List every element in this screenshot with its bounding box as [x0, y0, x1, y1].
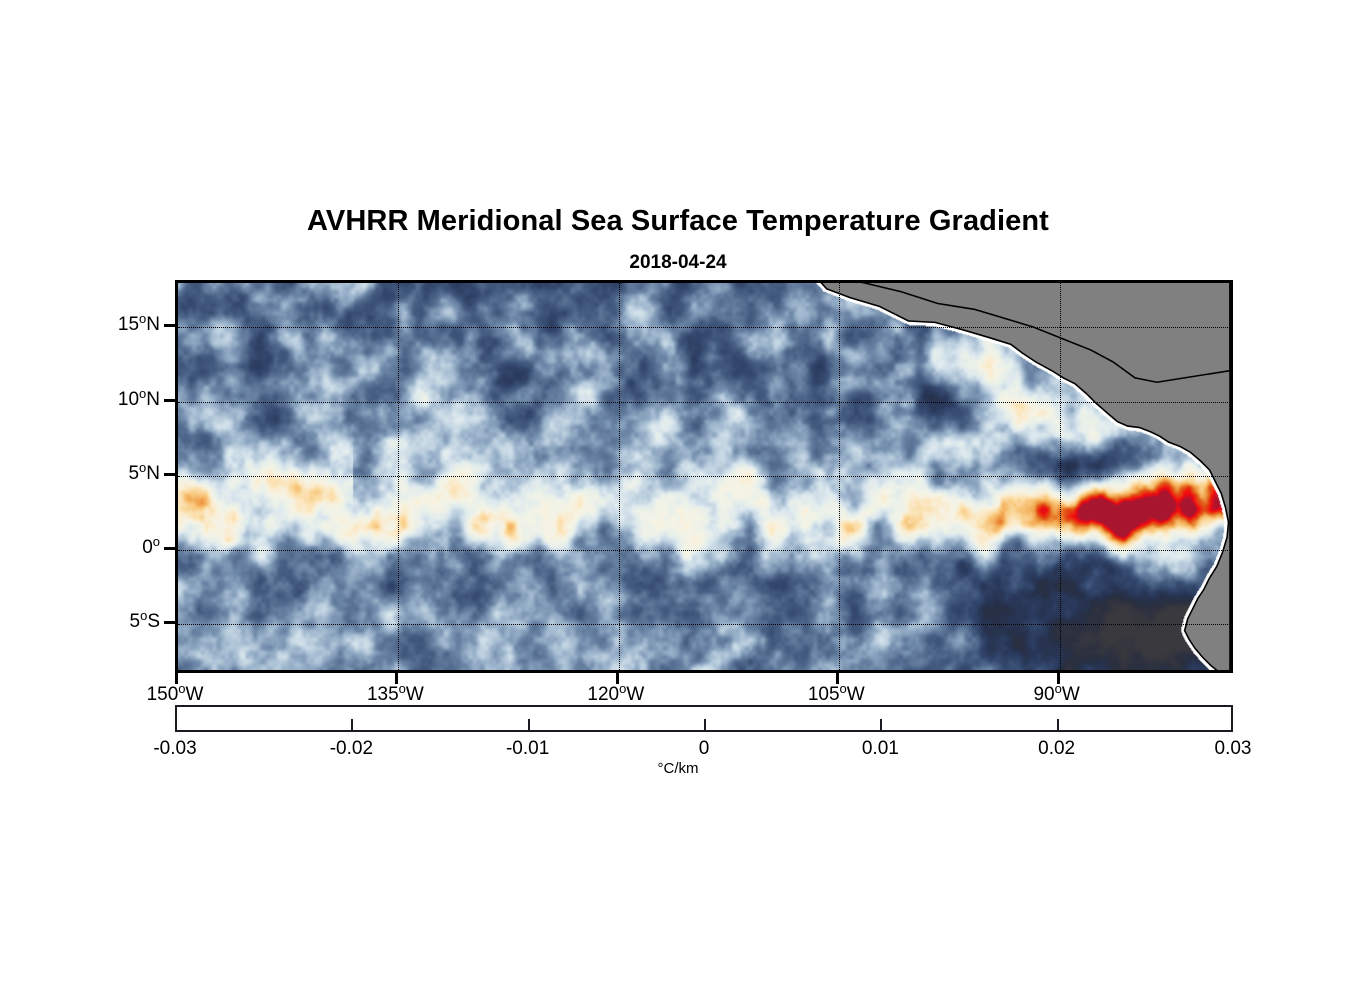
colorbar: [175, 705, 1233, 732]
map-axes: [175, 280, 1233, 673]
tick-lat-5N: [164, 473, 175, 476]
ticklabel-lon-90W: 90oW: [987, 681, 1127, 706]
coastline: [814, 283, 1230, 382]
page-title: AVHRR Meridional Sea Surface Temperature…: [0, 205, 1356, 238]
tick-lat-15N: [164, 324, 175, 327]
ticklabel-lat-5S: 5oS: [30, 608, 160, 633]
tick-lat-10N: [164, 399, 175, 402]
tick-lat-0: [164, 547, 175, 550]
figure-root: AVHRR Meridional Sea Surface Temperature…: [0, 0, 1356, 1000]
colorbar-tick--0.01: [528, 719, 530, 732]
ticklabel-lat-10N: 10oN: [30, 386, 160, 411]
tick-lat-5S: [164, 621, 175, 624]
colorbar-ticklabel-0: 0: [634, 738, 774, 760]
colorbar-tick-0: [704, 719, 706, 732]
colorbar-unit-label: °C/km: [0, 760, 1356, 777]
ticklabel-lon-150W: 150oW: [105, 681, 245, 706]
colorbar-ticklabel-0.02: 0.02: [987, 738, 1127, 760]
colorbar-ticklabel-0.01: 0.01: [810, 738, 950, 760]
ticklabel-lon-135W: 135oW: [325, 681, 465, 706]
coastline-overlay: [178, 283, 1230, 670]
ticklabel-lon-120W: 120oW: [546, 681, 686, 706]
colorbar-tick-0.01: [880, 719, 882, 732]
ticklabel-lat-5N: 5oN: [30, 460, 160, 485]
colorbar-ticklabel--0.03: -0.03: [105, 738, 245, 760]
colorbar-tick-0.02: [1057, 719, 1059, 732]
ticklabel-lon-105W: 105oW: [766, 681, 906, 706]
ticklabel-lat-0: 0o: [30, 534, 160, 559]
ticklabel-lat-15N: 15oN: [30, 311, 160, 336]
colorbar-ticklabel--0.01: -0.01: [458, 738, 598, 760]
colorbar-ticklabel--0.02: -0.02: [281, 738, 421, 760]
figure-date-subtitle: 2018-04-24: [0, 252, 1356, 274]
colorbar-tick--0.02: [351, 719, 353, 732]
colorbar-ticklabel-0.03: 0.03: [1163, 738, 1303, 760]
coastline: [814, 283, 1230, 670]
